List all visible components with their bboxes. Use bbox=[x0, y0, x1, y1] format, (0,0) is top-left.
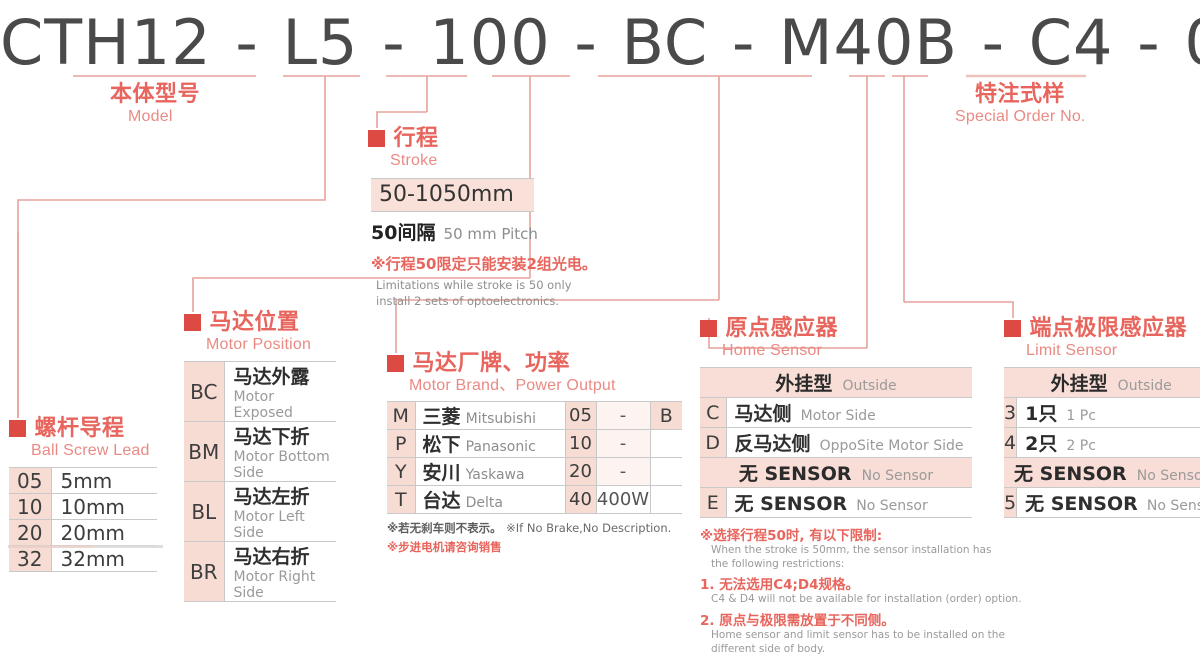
table-row: 10 10mm bbox=[9, 494, 157, 520]
table-row: BC 马达外露 Motor Exposed bbox=[184, 362, 336, 422]
lead-code: 32 bbox=[9, 546, 51, 572]
group-model: 本体型号 Model bbox=[110, 84, 200, 125]
note-item-2-en-1: Home sensor and limit sensor has to be i… bbox=[711, 629, 1022, 643]
home-sensor-value-en: No Sensor bbox=[856, 498, 927, 514]
group-motor-brand-label-cn: 马达厂牌、功率 bbox=[412, 353, 570, 375]
home-sensor-code: D bbox=[700, 428, 726, 458]
group-motor-brand-heading: 马达厂牌、功率 Motor Brand、Power Output bbox=[387, 353, 682, 394]
limit-sensor-value-en: 2 Pc bbox=[1066, 438, 1096, 454]
table-band-row: 外挂型 Outside bbox=[700, 368, 972, 398]
power-output: - bbox=[596, 458, 650, 486]
lead-value: 32mm bbox=[51, 546, 157, 572]
motor-position-en: Motor Exposed bbox=[234, 389, 337, 421]
table-row: 20 20mm bbox=[9, 520, 157, 546]
table-motor-brand: M 三菱 Mitsubishi 05 - B P 松下 Panasonic 10… bbox=[387, 401, 682, 514]
code-segment-motor-brand: M40B bbox=[779, 6, 958, 79]
motor-brand-note-1-en: ※If No Brake,No Description. bbox=[506, 521, 671, 535]
home-sensor-band-outside: 外挂型 Outside bbox=[700, 368, 972, 398]
brand-name-cn: 安川 bbox=[423, 462, 461, 484]
group-home-sensor: 原点感应器 Home Sensor 外挂型 Outside C 马达侧 Moto… bbox=[700, 318, 1022, 656]
limit-sensor-band-outside: 外挂型 Outside bbox=[1004, 368, 1200, 398]
brake-code: B bbox=[650, 402, 682, 430]
stroke-note-en-line2: install 2 sets of optoelectronics. bbox=[376, 294, 597, 310]
table-motor-position: BC 马达外露 Motor Exposed BM 马达下折 Motor Bott… bbox=[184, 361, 336, 602]
group-motor-position-label-cn: 马达位置 bbox=[209, 312, 299, 334]
limit-sensor-code: 3 bbox=[1004, 398, 1017, 428]
stroke-pitch-cn: 50间隔 bbox=[371, 222, 435, 244]
band-label-cn: 无 SENSOR bbox=[739, 463, 852, 485]
band-label-cn: 外挂型 bbox=[1051, 373, 1108, 395]
motor-position-cn: 马达右折 bbox=[234, 542, 337, 569]
brand-code: M bbox=[387, 402, 415, 430]
code-segment-motor-position: BC bbox=[621, 6, 708, 79]
bullet-square-icon bbox=[368, 130, 385, 147]
group-limit-sensor-label-cn: 端点极限感应器 bbox=[1029, 318, 1187, 340]
limit-sensor-value-cn: 1只 bbox=[1025, 403, 1057, 425]
bullet-square-icon bbox=[387, 355, 404, 372]
motor-position-cn: 马达下折 bbox=[234, 422, 337, 449]
brand-name: 松下 Panasonic bbox=[415, 430, 565, 458]
note-head-en-2: the following restrictions: bbox=[711, 558, 1022, 572]
band-label-cn: 外挂型 bbox=[775, 373, 832, 395]
group-limit-sensor-heading: 端点极限感应器 Limit Sensor bbox=[1004, 318, 1200, 359]
brand-name: 安川 Yaskawa bbox=[415, 458, 565, 486]
brand-name-cn: 台达 bbox=[423, 490, 461, 512]
group-model-label-en: Model bbox=[128, 109, 200, 125]
band-label-en: No Sensor bbox=[862, 468, 933, 484]
home-sensor-band-no-sensor: 无 SENSOR No Sensor bbox=[700, 458, 972, 488]
note-item-2-en-2: different side of body. bbox=[711, 643, 1022, 656]
code-segment-lead: L5 bbox=[283, 6, 359, 79]
home-sensor-value-en: OppoSite Motor Side bbox=[820, 438, 964, 454]
lead-code: 05 bbox=[9, 468, 51, 494]
table-row: BL 马达左折 Motor Left Side bbox=[184, 482, 336, 542]
limit-sensor-code: 5 bbox=[1004, 488, 1017, 518]
home-sensor-value: 马达侧 Motor Side bbox=[726, 398, 972, 428]
table-row: 5 无 SENSOR No Sensor bbox=[1004, 488, 1200, 518]
table-row: E 无 SENSOR No Sensor bbox=[700, 488, 972, 518]
group-motor-brand: 马达厂牌、功率 Motor Brand、Power Output M 三菱 Mi… bbox=[387, 353, 682, 555]
brake-code bbox=[650, 458, 682, 486]
motor-position-cn: 马达外露 bbox=[234, 362, 337, 389]
power-code: 10 bbox=[565, 430, 596, 458]
code-segment-sensors: C4 bbox=[1029, 6, 1114, 79]
lead-code: 10 bbox=[9, 494, 51, 520]
home-sensor-value-en: Motor Side bbox=[801, 408, 876, 424]
power-output: - bbox=[596, 430, 650, 458]
table-home-sensor: 外挂型 Outside C 马达侧 Motor Side D 反马达侧 Oppo… bbox=[700, 367, 972, 518]
motor-brand-note-1-cn: ※若无刹车则不表示。 bbox=[387, 521, 502, 535]
brake-code bbox=[650, 430, 682, 458]
table-row: P 松下 Panasonic 10 - bbox=[387, 430, 682, 458]
band-label-en: Outside bbox=[1118, 378, 1172, 394]
limit-sensor-value: 无 SENSOR No Sensor bbox=[1017, 488, 1200, 518]
limit-sensor-value-cn: 无 SENSOR bbox=[1025, 493, 1138, 515]
group-stroke-heading: 行程 Stroke bbox=[368, 128, 597, 169]
group-ball-screw-lead-label-en: Ball Screw Lead bbox=[31, 443, 157, 459]
group-motor-position: 马达位置 Motor Position BC 马达外露 Motor Expose… bbox=[184, 312, 336, 602]
code-segment-stroke: 100 bbox=[429, 6, 550, 79]
brand-name-en: Mitsubishi bbox=[466, 411, 536, 427]
group-ball-screw-lead-heading: 螺杆导程 Ball Screw Lead bbox=[9, 418, 157, 459]
group-home-sensor-label-cn: 原点感应器 bbox=[725, 318, 838, 340]
group-special-order-heading: 特注式样 Special Order No. bbox=[975, 84, 1086, 125]
motor-position-code: BR bbox=[184, 542, 224, 602]
brake-code bbox=[650, 486, 682, 514]
motor-position-value: 马达右折 Motor Right Side bbox=[224, 542, 336, 602]
home-sensor-value: 无 SENSOR No Sensor bbox=[726, 488, 972, 518]
motor-position-value: 马达左折 Motor Left Side bbox=[224, 482, 336, 542]
code-separator: - bbox=[571, 6, 600, 79]
lead-value: 20mm bbox=[51, 520, 157, 546]
band-label-cn: 无 SENSOR bbox=[1014, 463, 1127, 485]
table-limit-sensor: 外挂型 Outside 3 1只 1 Pc 4 2只 2 Pc bbox=[1004, 367, 1200, 518]
home-sensor-code: C bbox=[700, 398, 726, 428]
bottom-divider bbox=[8, 545, 163, 548]
note-item-1-cn: 1. 无法选用C4;D4规格。 bbox=[700, 573, 1022, 593]
note-head-en-1: When the stroke is 50mm, the sensor inst… bbox=[711, 544, 1022, 558]
home-sensor-notes: ※选择行程50时, 有以下限制: When the stroke is 50mm… bbox=[700, 524, 1022, 656]
limit-sensor-value: 2只 2 Pc bbox=[1017, 428, 1200, 458]
code-segment-model: CTH12 bbox=[0, 6, 212, 79]
table-row: Y 安川 Yaskawa 20 - bbox=[387, 458, 682, 486]
bullet-square-icon bbox=[9, 420, 26, 437]
stroke-pitch-en: 50 mm Pitch bbox=[444, 225, 538, 243]
stroke-note-en-line1: Limitations while stroke is 50 only bbox=[376, 278, 597, 294]
motor-brand-note-2: ※步进电机请咨询销售 bbox=[387, 539, 682, 555]
motor-position-code: BC bbox=[184, 362, 224, 422]
table-row: 3 1只 1 Pc bbox=[1004, 398, 1200, 428]
code-separator: - bbox=[979, 6, 1008, 79]
table-band-row: 外挂型 Outside bbox=[1004, 368, 1200, 398]
motor-position-code: BM bbox=[184, 422, 224, 482]
group-home-sensor-label-en: Home Sensor bbox=[722, 343, 1022, 359]
motor-position-en: Motor Right Side bbox=[234, 569, 337, 601]
brand-name-en: Delta bbox=[466, 495, 503, 511]
stroke-range-value: 50-1050mm bbox=[371, 178, 534, 212]
group-ball-screw-lead: 螺杆导程 Ball Screw Lead 05 5mm 10 10mm 20 2… bbox=[9, 418, 157, 572]
lead-code: 20 bbox=[9, 520, 51, 546]
table-ball-screw-lead: 05 5mm 10 10mm 20 20mm 32 32mm bbox=[9, 467, 157, 572]
group-stroke: 行程 Stroke 50-1050mm 50间隔 50 mm Pitch ※行程… bbox=[368, 128, 597, 309]
lead-value: 10mm bbox=[51, 494, 157, 520]
table-row: 32 32mm bbox=[9, 546, 157, 572]
code-segment-special-order: 0001 bbox=[1184, 6, 1200, 79]
power-output: 400W bbox=[596, 486, 650, 514]
limit-sensor-band-no-sensor: 无 SENSOR No Sensor bbox=[1004, 458, 1200, 488]
power-output: - bbox=[596, 402, 650, 430]
band-label-en: No Sensor bbox=[1137, 468, 1200, 484]
bullet-square-icon bbox=[700, 320, 717, 337]
model-code-string: CTH12 - L5 - 100 - BC - M40B - C4 - 0001 bbox=[0, 6, 1200, 79]
group-ball-screw-lead-label-cn: 螺杆导程 bbox=[34, 418, 124, 440]
table-row: D 反马达侧 OppoSite Motor Side bbox=[700, 428, 972, 458]
group-special-order-label-en: Special Order No. bbox=[955, 109, 1086, 125]
table-row: C 马达侧 Motor Side bbox=[700, 398, 972, 428]
brand-code: Y bbox=[387, 458, 415, 486]
code-separator: - bbox=[1134, 6, 1163, 79]
brand-code: P bbox=[387, 430, 415, 458]
limit-sensor-value: 1只 1 Pc bbox=[1017, 398, 1200, 428]
home-sensor-value-cn: 反马达侧 bbox=[735, 433, 811, 455]
group-model-heading: 本体型号 Model bbox=[110, 84, 200, 125]
motor-position-cn: 马达左折 bbox=[234, 482, 337, 509]
motor-position-en: Motor Bottom Side bbox=[234, 449, 337, 481]
power-code: 40 bbox=[565, 486, 596, 514]
note-item-2-cn: 2. 原点与极限需放置于不同侧。 bbox=[700, 609, 1022, 629]
brand-name: 三菱 Mitsubishi bbox=[415, 402, 565, 430]
group-special-order-label-cn: 特注式样 bbox=[975, 84, 1065, 106]
motor-brand-note-1: ※若无刹车则不表示。 ※If No Brake,No Description. bbox=[387, 519, 682, 537]
home-sensor-value-cn: 无 SENSOR bbox=[735, 493, 848, 515]
lead-value: 5mm bbox=[51, 468, 157, 494]
group-motor-position-heading: 马达位置 Motor Position bbox=[184, 312, 336, 353]
limit-sensor-value-en: 1 Pc bbox=[1066, 408, 1096, 424]
group-motor-brand-label-en: Motor Brand、Power Output bbox=[409, 378, 682, 394]
motor-position-en: Motor Left Side bbox=[234, 509, 337, 541]
table-row: T 台达 Delta 40 400W bbox=[387, 486, 682, 514]
group-motor-position-label-en: Motor Position bbox=[206, 337, 336, 353]
code-separator: - bbox=[729, 6, 758, 79]
code-separator: - bbox=[379, 6, 408, 79]
band-label-en: Outside bbox=[843, 378, 897, 394]
group-home-sensor-heading: 原点感应器 Home Sensor bbox=[700, 318, 1022, 359]
table-row: BM 马达下折 Motor Bottom Side bbox=[184, 422, 336, 482]
home-sensor-code: E bbox=[700, 488, 726, 518]
brand-name-en: Yaskawa bbox=[466, 467, 525, 483]
brand-name-en: Panasonic bbox=[466, 439, 536, 455]
limit-sensor-value-cn: 2只 bbox=[1025, 433, 1057, 455]
motor-position-value: 马达下折 Motor Bottom Side bbox=[224, 422, 336, 482]
brand-name-cn: 松下 bbox=[423, 434, 461, 456]
group-stroke-label-cn: 行程 bbox=[393, 128, 438, 150]
bullet-square-icon bbox=[1004, 320, 1021, 337]
limit-sensor-code: 4 bbox=[1004, 428, 1017, 458]
power-code: 05 bbox=[565, 402, 596, 430]
note-head-cn: ※选择行程50时, 有以下限制: bbox=[700, 524, 1022, 544]
code-separator: - bbox=[232, 6, 261, 79]
brand-name-cn: 三菱 bbox=[423, 406, 461, 428]
group-limit-sensor: 端点极限感应器 Limit Sensor 外挂型 Outside 3 1只 1 … bbox=[1004, 318, 1200, 518]
table-row: 4 2只 2 Pc bbox=[1004, 428, 1200, 458]
table-row: M 三菱 Mitsubishi 05 - B bbox=[387, 402, 682, 430]
stroke-pitch: 50间隔 50 mm Pitch bbox=[371, 218, 597, 245]
bullet-square-icon bbox=[184, 314, 201, 331]
power-code: 20 bbox=[565, 458, 596, 486]
home-sensor-value-cn: 马达侧 bbox=[735, 403, 792, 425]
group-special-order: 特注式样 Special Order No. bbox=[975, 84, 1086, 125]
stroke-note-cn: ※行程50限定只能安装2组光电。 bbox=[371, 253, 597, 274]
table-row: 05 5mm bbox=[9, 468, 157, 494]
home-sensor-value: 反马达侧 OppoSite Motor Side bbox=[726, 428, 972, 458]
group-model-label-cn: 本体型号 bbox=[110, 84, 200, 106]
motor-position-value: 马达外露 Motor Exposed bbox=[224, 362, 336, 422]
table-band-row: 无 SENSOR No Sensor bbox=[1004, 458, 1200, 488]
motor-position-code: BL bbox=[184, 482, 224, 542]
table-band-row: 无 SENSOR No Sensor bbox=[700, 458, 972, 488]
table-row: BR 马达右折 Motor Right Side bbox=[184, 542, 336, 602]
brand-code: T bbox=[387, 486, 415, 514]
brand-name: 台达 Delta bbox=[415, 486, 565, 514]
group-stroke-label-en: Stroke bbox=[390, 153, 597, 169]
group-limit-sensor-label-en: Limit Sensor bbox=[1026, 343, 1200, 359]
limit-sensor-value-en: No Sensor bbox=[1147, 498, 1200, 514]
